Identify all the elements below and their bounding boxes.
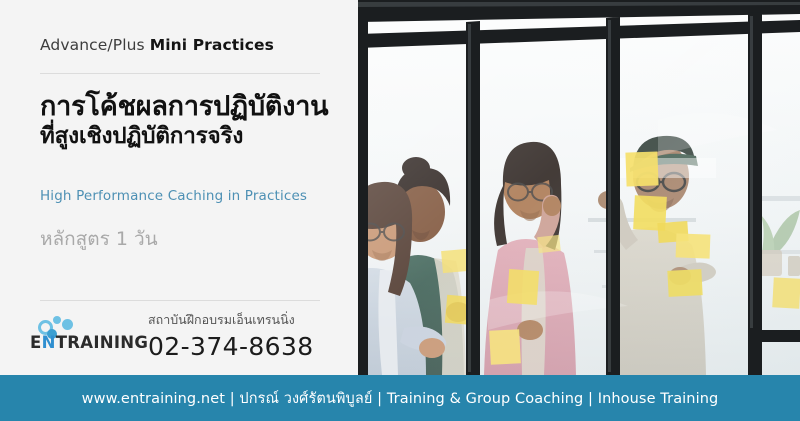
title-line-2: ที่สูงเชิงปฏิบัติการจริง: [40, 124, 340, 149]
logo-dot-medium: [62, 319, 73, 330]
organization-name: สถาบันฝึกอบรมเอ็นเทรนนิ่ง: [148, 312, 314, 328]
logo-letters-training: TRAINING: [56, 333, 149, 352]
page-title: การโค้ชผลการปฏิบัติงาน ที่สูงเชิงปฏิบัติ…: [40, 92, 340, 149]
logo-letter-n: N: [42, 333, 56, 352]
contact-block: สถาบันฝึกอบรมเอ็นเทรนนิ่ง 02-374-8638: [148, 312, 314, 361]
entraining-logo[interactable]: ENTRAINING: [28, 316, 140, 356]
phone-number[interactable]: 02-374-8638: [148, 334, 314, 360]
logo-letter-e: E: [30, 333, 42, 352]
course-duration: หลักสูตร 1 วัน: [40, 224, 158, 254]
logo-dot-small: [53, 316, 61, 324]
footer-text[interactable]: www.entraining.net | ปกรณ์ วงศ์รัตนพิบูล…: [82, 387, 719, 410]
eyebrow-bold-text: Mini Practices: [150, 36, 274, 54]
divider-bottom: [40, 300, 320, 301]
course-promo-banner: Advance/Plus Mini Practices การโค้ชผลการ…: [0, 0, 800, 421]
logo-wordmark: ENTRAINING: [30, 335, 148, 352]
brand-contact-row: ENTRAINING สถาบันฝึกอบรมเอ็นเทรนนิ่ง 02-…: [28, 312, 338, 370]
hero-photo: [358, 0, 800, 375]
eyebrow-label: Advance/Plus Mini Practices: [40, 36, 274, 54]
eyebrow-regular-text: Advance/Plus: [40, 36, 145, 54]
hero-photo-illustration: [358, 0, 800, 375]
divider-top: [40, 73, 320, 74]
footer-bar: www.entraining.net | ปกรณ์ วงศ์รัตนพิบูล…: [0, 375, 800, 421]
subtitle-english: High Performance Caching in Practices: [40, 188, 307, 204]
title-line-1: การโค้ชผลการปฏิบัติงาน: [40, 92, 340, 122]
